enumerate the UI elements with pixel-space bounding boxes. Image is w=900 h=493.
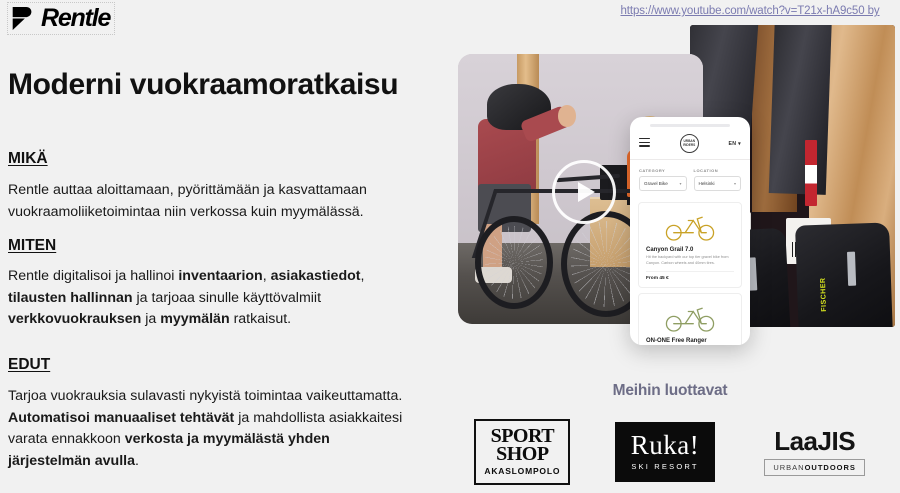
content-right-column: FISCHER FISCHER xyxy=(440,0,900,493)
ski-stripe-austria xyxy=(805,140,817,206)
sportshop-line3: AKASLOMPOLO xyxy=(484,466,560,476)
ski-binding: FISCHER xyxy=(795,223,893,327)
rentle-mark-icon xyxy=(10,5,37,32)
fischer-brand-text: FISCHER xyxy=(819,278,827,312)
product-name: ON-ONE Free Ranger xyxy=(646,338,734,344)
ruka-wordmark: Ruka! xyxy=(631,433,699,459)
section-body-mika: Rentle auttaa aloittamaan, pyörittämään … xyxy=(8,180,408,223)
section-heading-miten: MITEN xyxy=(8,237,56,255)
hamburger-menu-icon[interactable] xyxy=(639,138,650,149)
product-card[interactable]: ON-ONE Free Ranger Carbon all-rounder, s… xyxy=(638,293,742,345)
rentle-wordmark: Rentle xyxy=(41,6,110,31)
laajis-tagline-outdoors: OUTDOORS xyxy=(805,463,856,472)
laajis-wordmark: LaaJIS xyxy=(774,428,855,454)
rentle-logo[interactable]: Rentle xyxy=(8,3,114,34)
product-name: Canyon Grail 7.0 xyxy=(646,247,734,253)
content-left-column: Rentle Moderni vuokraamoratkaisu MIKÄ Re… xyxy=(0,0,440,493)
partner-logos-row: SPORT SHOP AKASLOMPOLO Ruka! SKI RESORT … xyxy=(452,416,892,488)
chevron-down-icon: ▾ xyxy=(734,181,736,186)
filter-location-label: LOCATION xyxy=(694,168,742,173)
laajis-urban-outdoors-logo: LaaJIS URBANOUTDOORS xyxy=(760,428,870,476)
filter-category-value: Gravel Bike xyxy=(644,181,668,186)
filter-location: LOCATION Helsinki ▾ xyxy=(694,168,742,191)
language-selector[interactable]: EN ▾ xyxy=(729,141,741,147)
play-triangle xyxy=(578,182,595,202)
section-heading-mika: MIKÄ xyxy=(8,150,48,168)
section-heading-edut: EDUT xyxy=(8,356,50,374)
trusted-by-title: Meihin luottavat xyxy=(440,382,900,400)
section-body-edut: Tarjoa vuokrauksia sulavasti nykyistä to… xyxy=(8,386,408,472)
bicycle-icon xyxy=(646,301,734,335)
chevron-down-icon: ▾ xyxy=(679,181,681,186)
phone-filter-bar: CATEGORY Gravel Bike ▾ LOCATION Helsinki… xyxy=(630,160,750,197)
filter-location-select[interactable]: Helsinki ▾ xyxy=(694,176,742,191)
play-button-icon[interactable] xyxy=(552,160,616,224)
product-footer: From 45 € xyxy=(646,271,734,281)
phone-app-topbar: URBANRIDERS EN ▾ xyxy=(630,127,750,160)
product-price: From 45 € xyxy=(646,276,669,281)
ruka-ski-resort-logo: Ruka! SKI RESORT xyxy=(615,422,715,482)
product-card[interactable]: Canyon Grail 7.0 Hit the backyard with o… xyxy=(638,202,742,288)
phone-mockup: URBANRIDERS EN ▾ CATEGORY Gravel Bike ▾ … xyxy=(630,117,750,345)
sportshop-akaslompolo-logo: SPORT SHOP AKASLOMPOLO xyxy=(474,419,570,485)
sportshop-line2: SHOP xyxy=(496,445,548,463)
binding-buckle xyxy=(846,251,856,286)
bicycle-icon xyxy=(646,210,734,244)
laajis-tagline: URBANOUTDOORS xyxy=(764,459,865,476)
filter-category: CATEGORY Gravel Bike ▾ xyxy=(639,168,687,191)
filter-category-select[interactable]: Gravel Bike ▾ xyxy=(639,176,687,191)
section-body-miten: Rentle digitalisoi ja hallinoi inventaar… xyxy=(8,266,408,331)
video-scene-bike-wheel xyxy=(475,216,553,309)
shop-logo-badge: URBANRIDERS xyxy=(680,134,699,153)
product-description: Hit the backyard with our top tier grave… xyxy=(646,255,734,266)
page-title: Moderni vuokraamoratkaisu xyxy=(8,68,398,102)
filter-location-value: Helsinki xyxy=(699,181,715,186)
laajis-tagline-urban: URBAN xyxy=(773,463,804,472)
wheel-spokes xyxy=(485,226,543,299)
filter-category-label: CATEGORY xyxy=(639,168,687,173)
ruka-tagline: SKI RESORT xyxy=(631,462,698,471)
video-scene-customer-hand xyxy=(558,105,575,127)
ski-plank xyxy=(769,25,833,195)
chevron-down-icon: ▾ xyxy=(738,141,741,147)
